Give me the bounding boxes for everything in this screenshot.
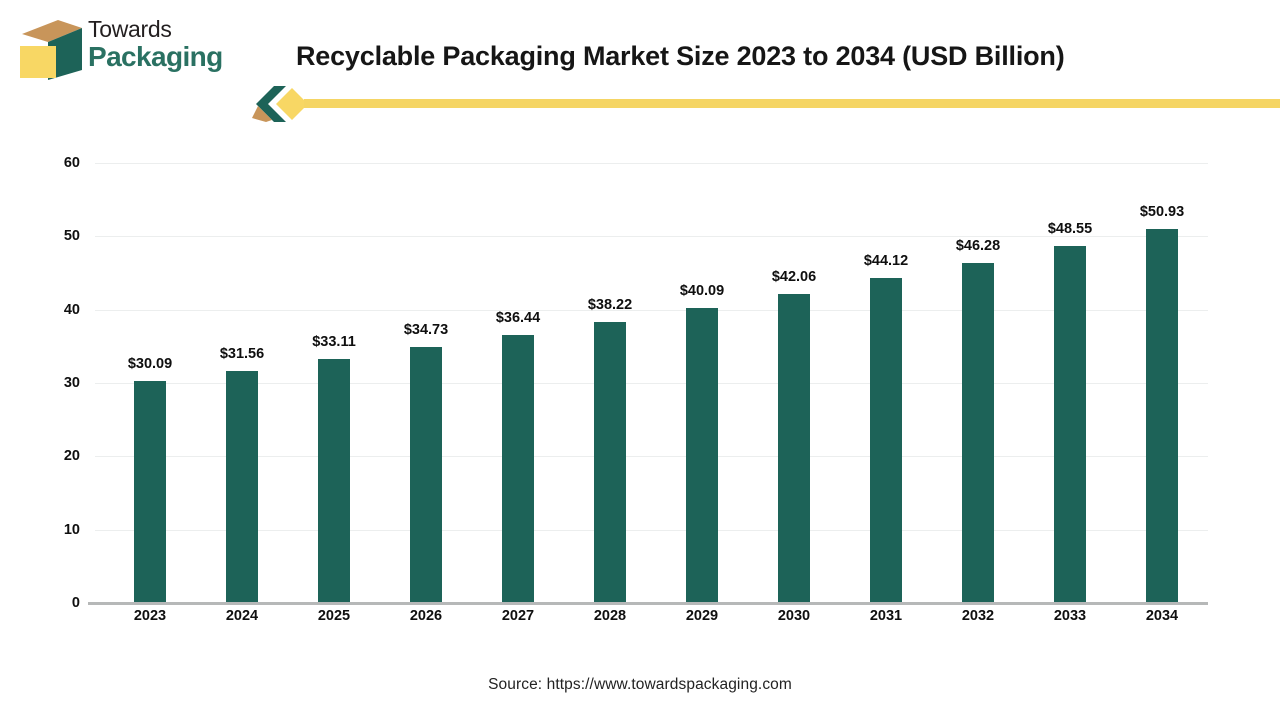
y-axis-tick-label: 30: [20, 375, 80, 391]
bar[interactable]: [686, 308, 718, 602]
bar-group[interactable]: $50.932034: [1116, 116, 1208, 602]
bar-value-label: $50.93: [1102, 204, 1222, 220]
bar-group[interactable]: $40.092029: [656, 116, 748, 602]
bar-value-label: $40.09: [642, 283, 762, 299]
bar-group[interactable]: $31.562024: [196, 116, 288, 602]
bar[interactable]: [1054, 246, 1086, 602]
bar[interactable]: [962, 263, 994, 602]
bar[interactable]: [318, 359, 350, 602]
bar-value-label: $46.28: [918, 238, 1038, 254]
y-axis-tick-label: 20: [20, 448, 80, 464]
bar[interactable]: [778, 294, 810, 602]
source-caption: Source: https://www.towardspackaging.com: [0, 676, 1280, 694]
y-axis-tick-label: 50: [20, 228, 80, 244]
x-axis-category-label: 2034: [1102, 608, 1222, 624]
bar-group[interactable]: $44.122031: [840, 116, 932, 602]
bar-group[interactable]: $46.282032: [932, 116, 1024, 602]
bar[interactable]: [1146, 229, 1178, 602]
bar-value-label: $38.22: [550, 297, 670, 313]
bar[interactable]: [410, 347, 442, 602]
y-axis-tick-label: 0: [20, 595, 80, 611]
bar-group[interactable]: $38.222028: [564, 116, 656, 602]
y-axis-tick-label: 60: [20, 155, 80, 171]
bar-chart: 0102030405060$30.092023$31.562024$33.112…: [0, 0, 1280, 720]
bar-group[interactable]: $34.732026: [380, 116, 472, 602]
bar[interactable]: [226, 371, 258, 602]
bar[interactable]: [870, 278, 902, 602]
bar[interactable]: [502, 335, 534, 602]
y-axis-tick-label: 40: [20, 302, 80, 318]
bar[interactable]: [134, 381, 166, 602]
bar-group[interactable]: $42.062030: [748, 116, 840, 602]
bar-group[interactable]: $33.112025: [288, 116, 380, 602]
bar[interactable]: [594, 322, 626, 602]
y-axis-tick-label: 10: [20, 522, 80, 538]
bar-value-label: $42.06: [734, 269, 854, 285]
x-axis-line: [88, 602, 1208, 605]
bar-value-label: $44.12: [826, 253, 946, 269]
bar-group[interactable]: $48.552033: [1024, 116, 1116, 602]
bar-value-label: $48.55: [1010, 221, 1130, 237]
bar-group[interactable]: $36.442027: [472, 116, 564, 602]
